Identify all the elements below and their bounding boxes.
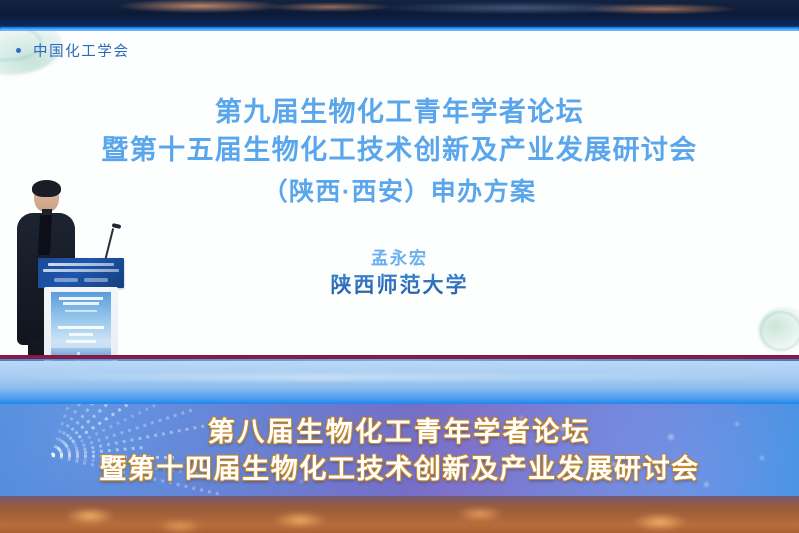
podium-display-line-1 bbox=[59, 297, 103, 300]
stage-backdrop-banner: 第八届生物化工青年学者论坛 暨第十四届生物化工技术创新及产业发展研讨会 bbox=[0, 404, 799, 496]
slide-title-line-3: （陕西·西安）申办方案 bbox=[0, 173, 799, 211]
podium-display-line-2 bbox=[63, 302, 99, 305]
podium-sign-chip-left bbox=[54, 278, 78, 282]
banner-bokeh-dot bbox=[520, 416, 523, 419]
stage-floor bbox=[0, 361, 799, 404]
podium-sign bbox=[38, 258, 124, 288]
podium-display-line-5 bbox=[69, 333, 93, 336]
society-logo-text: 中国化工学会 bbox=[33, 40, 130, 61]
slide-title-line-2: 暨第十五届生物化工技术创新及产业发展研讨会 bbox=[0, 131, 799, 169]
banner-text-block: 第八届生物化工青年学者论坛 暨第十四届生物化工技术创新及产业发展研讨会 bbox=[0, 414, 799, 488]
banner-bokeh-dot bbox=[668, 434, 674, 440]
banner-bokeh-dot bbox=[612, 462, 616, 466]
banner-bokeh-dot bbox=[300, 480, 303, 483]
podium-display-line-4 bbox=[58, 326, 104, 329]
banner-bokeh-dot bbox=[560, 426, 565, 431]
banner-bokeh-dot bbox=[392, 424, 395, 427]
banner-bokeh-dot bbox=[735, 422, 739, 426]
stage-floor-reflection bbox=[0, 374, 799, 381]
decorative-ring-right-icon bbox=[760, 311, 799, 351]
banner-bokeh-dot bbox=[760, 456, 764, 460]
podium-display-line-6 bbox=[66, 340, 96, 343]
podium-sign-line-2 bbox=[43, 269, 119, 272]
foreground-blur-overlay bbox=[0, 496, 799, 533]
speaker-lapel bbox=[38, 215, 52, 255]
banner-line-2: 暨第十四届生物化工技术创新及产业发展研讨会 bbox=[0, 450, 799, 488]
society-logo: 中国化工学会 bbox=[16, 40, 130, 61]
banner-bokeh-dot bbox=[470, 474, 473, 477]
bullet-dot-icon bbox=[16, 48, 21, 53]
conference-photo: 中国化工学会 第九届生物化工青年学者论坛 暨第十五届生物化工技术创新及产业发展研… bbox=[0, 0, 799, 533]
speaker-hair bbox=[32, 180, 61, 197]
podium-sign-line-1 bbox=[48, 263, 114, 266]
banner-bokeh-dot bbox=[704, 482, 709, 487]
slide-title-line-1: 第九届生物化工青年学者论坛 bbox=[0, 93, 799, 131]
slide-title-block: 第九届生物化工青年学者论坛 暨第十五届生物化工技术创新及产业发展研讨会 （陕西·… bbox=[0, 93, 799, 211]
banner-line-1: 第八届生物化工青年学者论坛 bbox=[0, 414, 799, 450]
podium-sign-chip-right bbox=[84, 278, 108, 282]
podium-display-line-3 bbox=[65, 310, 97, 312]
